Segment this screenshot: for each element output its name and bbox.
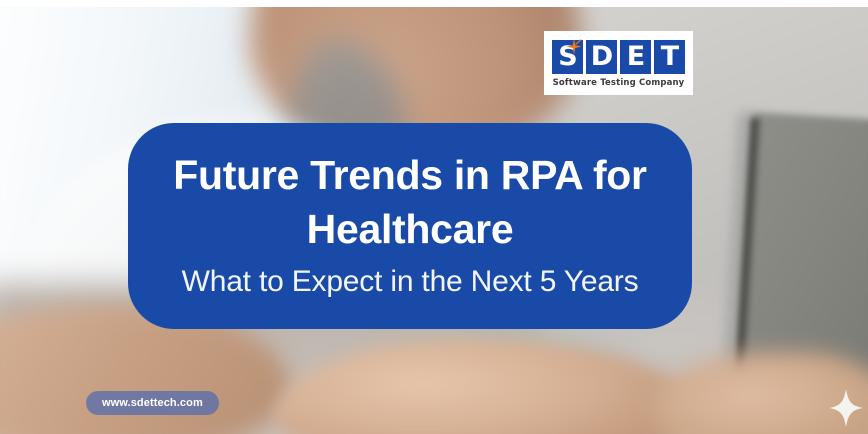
- logo-tagline: Software Testing Company: [553, 78, 685, 88]
- title-panel: Future Trends in RPA for Healthcare What…: [128, 123, 692, 329]
- logo-tile-e: E: [620, 40, 651, 74]
- promo-banner: S D E T Software Testing Company Future …: [0, 0, 868, 434]
- screen-glint-sparkle-icon: [828, 388, 864, 428]
- logo-tile-d: D: [586, 40, 617, 74]
- sdet-logo[interactable]: S D E T Software Testing Company: [544, 31, 693, 95]
- logo-sparkle-icon: [566, 39, 582, 55]
- top-white-strip: [0, 0, 868, 7]
- website-url-badge[interactable]: www.sdettech.com: [86, 391, 219, 415]
- logo-tile-t: T: [654, 40, 685, 74]
- banner-heading: Future Trends in RPA for Healthcare: [160, 148, 660, 256]
- logo-letter-tiles: S D E T: [552, 40, 685, 74]
- banner-subheading: What to Expect in the Next 5 Years: [182, 264, 639, 300]
